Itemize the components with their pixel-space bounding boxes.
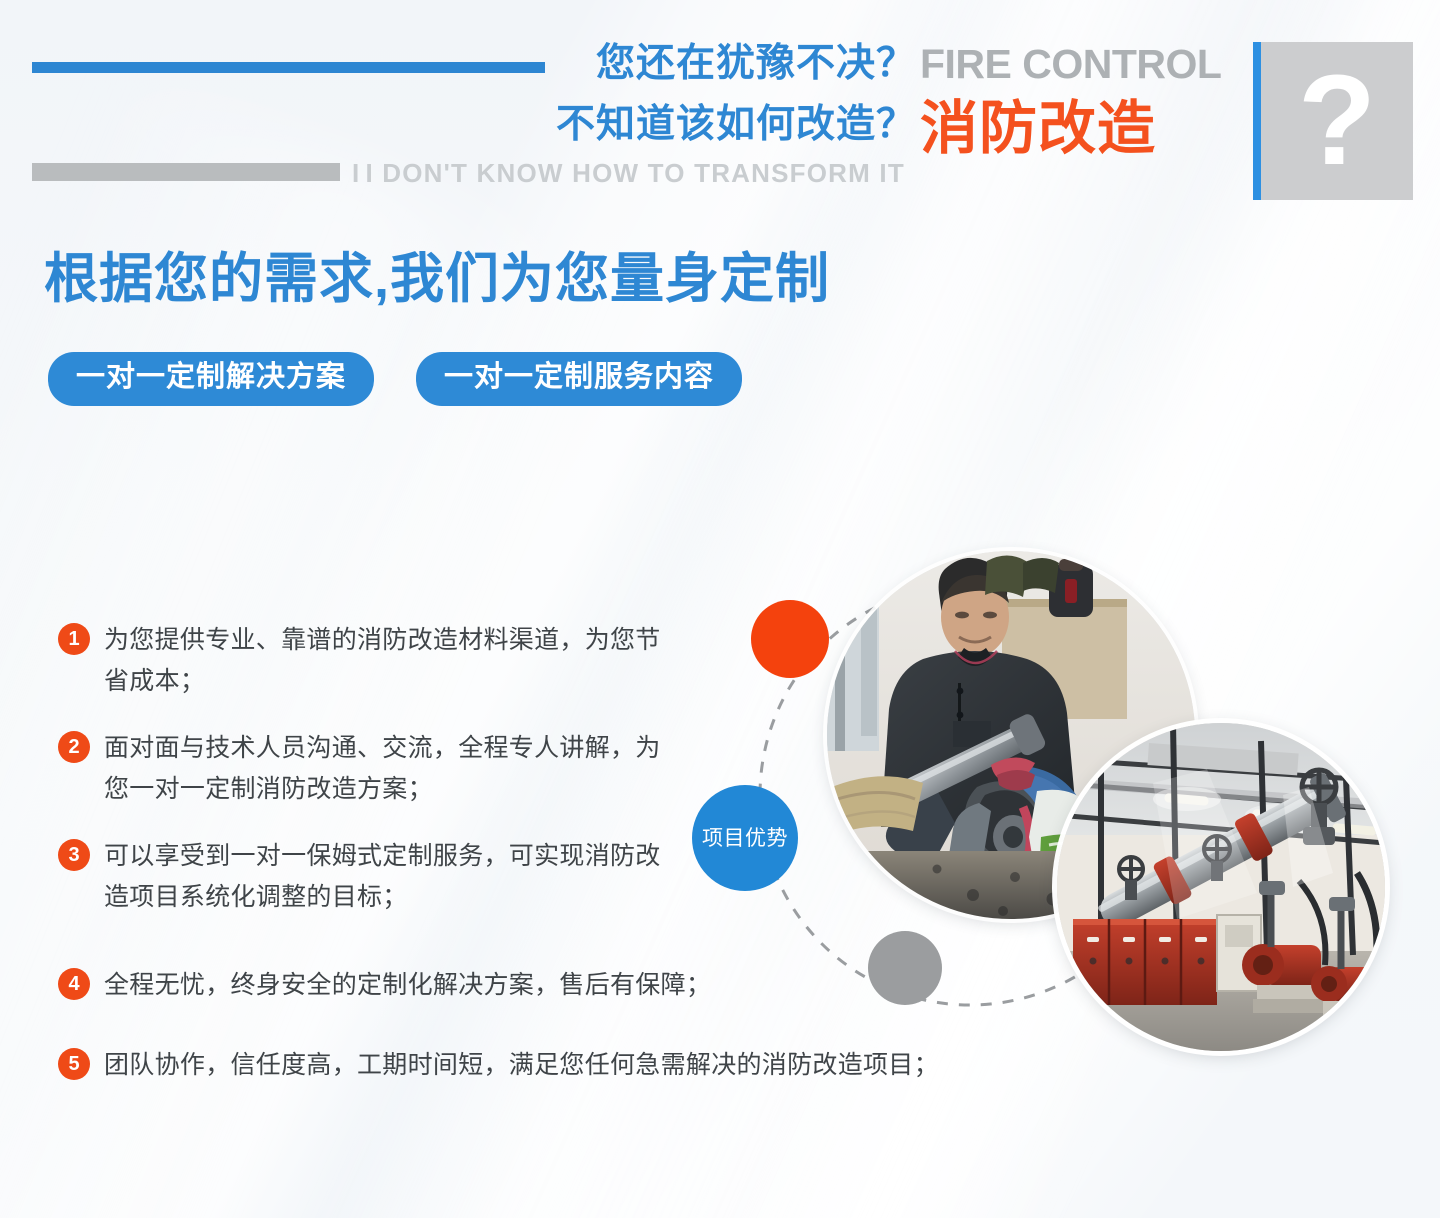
header-question-line-1: 您还在犹豫不决？ [0, 44, 916, 83]
list-item-number-badge: 1 [58, 623, 90, 655]
list-item-number-badge: 3 [58, 839, 90, 871]
promo-page: 您还在犹豫不决？ 不知道该如何改造？ II DON'T KNOW HOW TO … [0, 0, 1440, 1218]
pill-custom-service[interactable]: 一对一定制服务内容 [416, 352, 742, 406]
list-item: 2 面对面与技术人员沟通、交流，全程专人讲解，为您一对一定制消防改造方案； [58, 728, 684, 809]
advantage-circle-badge: 项目优势 [692, 785, 798, 891]
pill-custom-solution[interactable]: 一对一定制解决方案 [48, 352, 374, 406]
list-item-text: 全程无忧，终身安全的定制化解决方案，售后有保障； [104, 965, 1064, 1006]
page-title: 根据您的需求,我们为您量身定制 [44, 250, 830, 309]
brand-chinese-label: 消防改造 [920, 100, 1156, 158]
header-english-subtitle: II DON'T KNOW HOW TO TRANSFORM IT [352, 160, 905, 186]
header-gray-rule [32, 163, 340, 181]
header-question-line-2: 不知道该如何改造？ [0, 105, 916, 144]
list-item-text: 为您提供专业、靠谱的消防改造材料渠道，为您节省成本； [104, 620, 684, 701]
header-subtitle-text: I DON'T KNOW HOW TO TRANSFORM IT [365, 158, 905, 188]
list-item-number-badge: 2 [58, 731, 90, 763]
question-mark-icon: ? [1253, 42, 1413, 200]
orange-marker-dot [751, 600, 829, 678]
list-item: 5 团队协作，信任度高，工期时间短，满足您任何急需解决的消防改造项目； [58, 1045, 1064, 1086]
brand-english-label: FIRE CONTROL [920, 44, 1221, 85]
list-item-number-badge: 4 [58, 968, 90, 1000]
list-item-text: 面对面与技术人员沟通、交流，全程专人讲解，为您一对一定制消防改造方案； [104, 728, 684, 809]
fire-pump-room-photo [1057, 723, 1385, 1051]
list-item: 3 可以享受到一对一保姆式定制服务，可实现消防改造项目系统化调整的目标； [58, 836, 684, 917]
list-item: 1 为您提供专业、靠谱的消防改造材料渠道，为您节省成本； [58, 620, 684, 701]
list-item: 4 全程无忧，终身安全的定制化解决方案，售后有保障； [58, 965, 1064, 1006]
list-item-text: 可以享受到一对一保姆式定制服务，可实现消防改造项目系统化调整的目标； [104, 836, 684, 917]
list-item-number-badge: 5 [58, 1048, 90, 1080]
header-subtitle-tick: I [352, 158, 360, 188]
list-item-text: 团队协作，信任度高，工期时间短，满足您任何急需解决的消防改造项目； [104, 1045, 1064, 1086]
pill-button-group: 一对一定制解决方案 一对一定制服务内容 [48, 352, 742, 406]
